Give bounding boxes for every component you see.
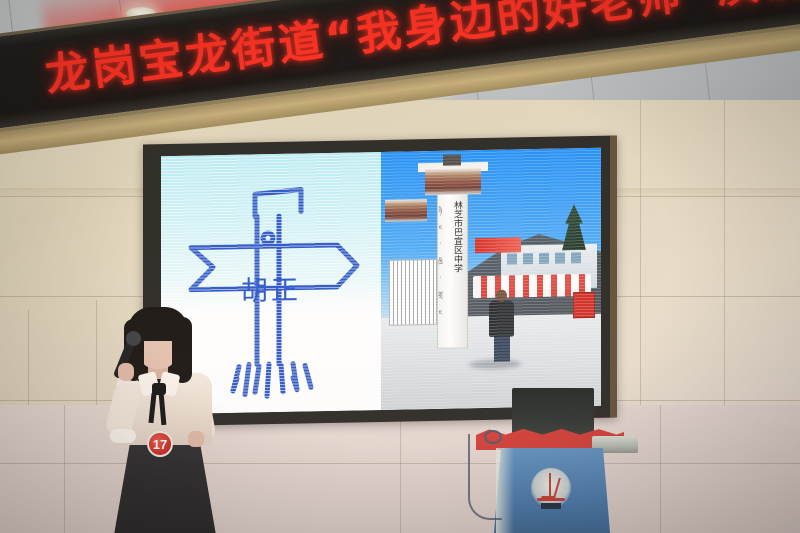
red-notice-board	[573, 292, 595, 318]
cable-loop	[484, 430, 502, 444]
school-name-vertical: 林芝市巴宜区中学	[447, 200, 461, 272]
presenter-hand-right	[188, 431, 204, 447]
red-signboard	[475, 237, 521, 253]
school-emblem-icon	[531, 468, 571, 508]
podium	[476, 394, 624, 533]
gate-top-plaque	[443, 154, 461, 165]
presenter-cuff	[110, 429, 136, 443]
presenter: 17	[96, 305, 228, 533]
presenter-hair-right	[172, 317, 192, 383]
presenter-hand-left	[118, 363, 134, 381]
slide-right-photo: 林芝市巴宜区中学 ཉིང་ཁྲི་གྲོང	[381, 148, 601, 410]
presenter-laptop	[512, 388, 594, 436]
scene-root: 龙岗宝龙街道 龙岗宝龙街道“我身边的好老师”演讲比赛	[0, 0, 800, 533]
contestant-number-badge: 17	[147, 431, 173, 457]
signpost-label: 胡正	[241, 268, 301, 308]
school-name-tibetan: ཉིང་ཁྲི་གྲོང	[435, 205, 446, 324]
gate-fence	[389, 259, 437, 326]
gate-roof	[425, 168, 481, 195]
gate-side-roof	[385, 199, 427, 222]
power-cable	[468, 434, 502, 520]
tree	[561, 204, 587, 250]
microphone-head-icon	[126, 331, 141, 346]
